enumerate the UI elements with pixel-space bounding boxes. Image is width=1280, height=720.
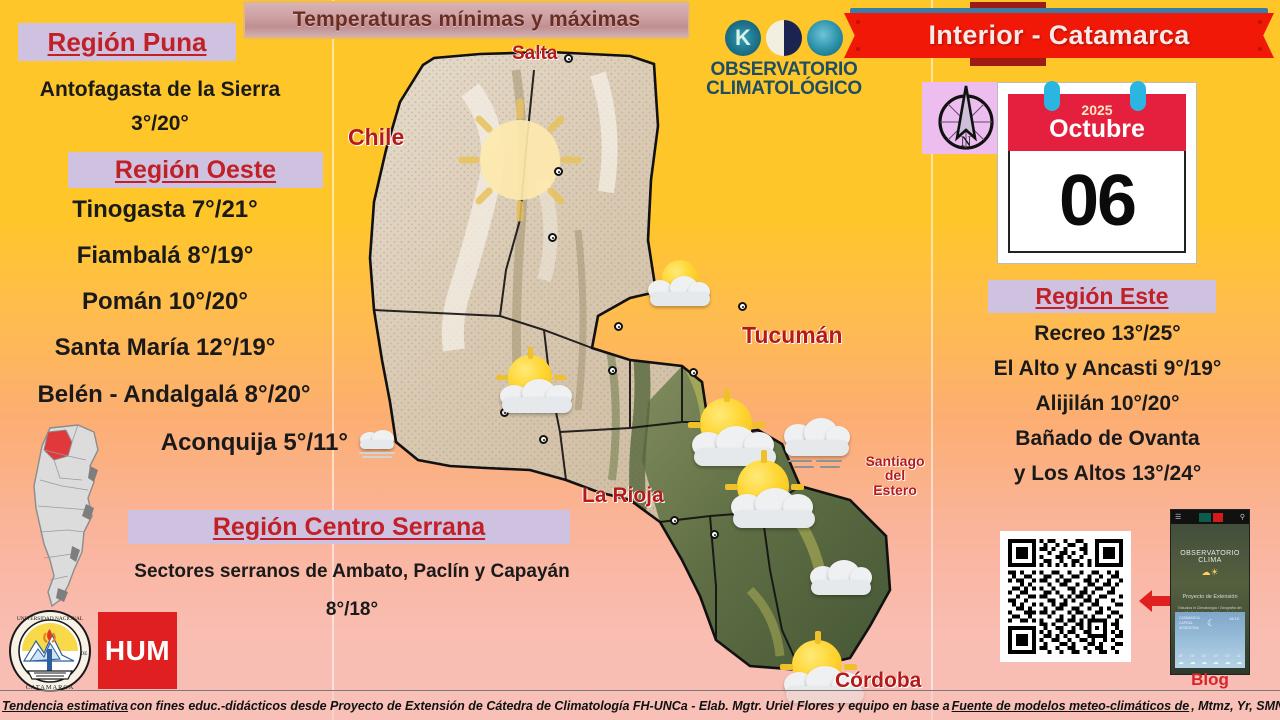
map-label-salta: Salta bbox=[512, 44, 557, 63]
blog-phone-mockup[interactable]: ☰ ⚲ OBSERVATORIO CLIMA ☁☀ Proyecto de Ex… bbox=[1170, 509, 1250, 675]
map-label-cordoba: Córdoba bbox=[835, 670, 921, 691]
header-ribbon-group: Interior - Catamarca bbox=[840, 2, 1278, 66]
phone-weather-card: CATAMARCACAPITALARGENTINA 18:15 ☾ 18°16°… bbox=[1175, 612, 1245, 668]
argentina-locator-map bbox=[20, 420, 115, 610]
map-label-santiago-del-estero: Santiago del Estero bbox=[850, 454, 940, 497]
phone-subtitle: Proyecto de Extensión bbox=[1171, 594, 1249, 600]
phone-title: OBSERVATORIO CLIMA bbox=[1171, 550, 1249, 564]
region-puna-line-0: Antofagasta de la Sierra bbox=[0, 78, 320, 102]
hum-logo-text: HUM bbox=[105, 635, 170, 667]
logo-badge-moon-icon bbox=[766, 20, 802, 56]
phone-weather-icon: ☁☀ bbox=[1171, 567, 1249, 578]
calendar-ring-right bbox=[1130, 81, 1146, 111]
observatory-line2: CLIMATOLÓGICO bbox=[690, 79, 878, 98]
catamarca-map: Salta Chile Tucumán La Rioja Santiago de… bbox=[330, 30, 930, 690]
city-dot bbox=[564, 54, 573, 63]
region-centro-serrana-line-0: Sectores serranos de Ambato, Paclín y Ca… bbox=[92, 561, 612, 583]
region-este-line-1: El Alto y Ancasti 9°/19° bbox=[935, 357, 1280, 381]
footer-part4: , Mtmz, Yr, SMN bbox=[1189, 699, 1280, 713]
footer-part2: con fines educ.-didácticos desde Proyect… bbox=[128, 699, 950, 713]
footer-part1: Tendencia estimativa bbox=[0, 699, 128, 713]
infographic-canvas: Salta Chile Tucumán La Rioja Santiago de… bbox=[0, 0, 1280, 720]
region-este-heading: Región Este bbox=[988, 280, 1216, 313]
page-title: Temperaturas mínimas y máximas bbox=[293, 8, 641, 32]
region-oeste-line-2: Pomán 10°/20° bbox=[0, 288, 330, 316]
phone-status-bar: ☰ ⚲ bbox=[1171, 510, 1249, 524]
weather-icon-sun-cloud bbox=[725, 458, 823, 538]
region-oeste-line-4: Belén - Andalgalá 8°/20° bbox=[0, 381, 348, 409]
region-este-line-3: Bañado de Ovanta bbox=[935, 427, 1280, 451]
unca-logo: UNIVERSIDAD NACIONAL CATAMARCA DE bbox=[8, 609, 92, 693]
city-dot bbox=[554, 167, 563, 176]
region-este-line-4: y Los Altos 13°/24° bbox=[935, 462, 1280, 486]
page-title-banner: Temperaturas mínimas y máximas bbox=[243, 1, 690, 39]
map-label-la-rioja: La Rioja bbox=[582, 485, 664, 506]
region-oeste-line-1: Fiambalá 8°/19° bbox=[0, 242, 330, 270]
qr-code[interactable] bbox=[1000, 531, 1131, 662]
logo-badge-k-icon: K bbox=[725, 20, 761, 56]
region-este-line-0: Recreo 13°/25° bbox=[935, 322, 1280, 346]
city-dot bbox=[710, 530, 719, 539]
region-oeste-line-3: Santa María 12°/19° bbox=[0, 334, 330, 362]
map-label-tucuman: Tucumán bbox=[742, 324, 843, 347]
weather-icon-cloud bbox=[808, 558, 874, 604]
qr-code-graphic bbox=[1008, 539, 1123, 654]
region-este-heading-text: Región Este bbox=[1036, 283, 1169, 310]
calendar-month: Octubre bbox=[1049, 115, 1145, 144]
calendar-header: 2025 Octubre bbox=[1008, 94, 1186, 151]
calendar-day: 06 bbox=[1059, 160, 1135, 242]
city-dot bbox=[670, 516, 679, 525]
logo-badge-globe-icon bbox=[807, 20, 843, 56]
city-dot bbox=[548, 233, 557, 242]
svg-text:UNIVERSIDAD NACIONAL: UNIVERSIDAD NACIONAL bbox=[17, 616, 83, 622]
weather-icon-fog bbox=[356, 430, 400, 460]
city-dot bbox=[614, 322, 623, 331]
calendar-ring-left bbox=[1044, 81, 1060, 111]
footer-part3: Fuente de modelos meteo-climáticos de bbox=[950, 699, 1190, 713]
region-oeste-line-0: Tinogasta 7°/21° bbox=[0, 196, 330, 224]
city-dot bbox=[608, 366, 617, 375]
observatory-line1: OBSERVATORIO bbox=[690, 60, 878, 79]
calendar-body: 06 bbox=[1008, 151, 1186, 253]
region-centro-serrana-heading: Región Centro Serrana bbox=[128, 510, 570, 544]
blog-label: Blog bbox=[1170, 670, 1250, 690]
svg-text:DE: DE bbox=[81, 652, 88, 657]
compass-rose-icon: N bbox=[922, 82, 1007, 154]
city-dot bbox=[738, 302, 747, 311]
map-label-santiago-line1: Santiago bbox=[850, 454, 940, 468]
map-label-santiago-line3: Estero bbox=[850, 483, 940, 497]
region-centro-serrana-heading-text: Región Centro Serrana bbox=[213, 513, 485, 542]
header-ribbon: Interior - Catamarca bbox=[844, 13, 1274, 58]
region-este-line-2: Alijilán 10°/20° bbox=[935, 392, 1280, 416]
region-oeste-heading: Región Oeste bbox=[68, 152, 323, 188]
arrow-left-icon bbox=[1139, 588, 1173, 614]
region-puna-heading: Región Puna bbox=[18, 23, 236, 61]
svg-text:N: N bbox=[961, 134, 972, 150]
map-label-chile: Chile bbox=[348, 126, 404, 149]
region-oeste-heading-text: Región Oeste bbox=[115, 156, 276, 185]
region-puna-line-1: 3°/20° bbox=[0, 112, 320, 136]
map-label-santiago-line2: del bbox=[850, 468, 940, 482]
region-puna-heading-text: Región Puna bbox=[48, 27, 207, 58]
calendar-widget: 2025 Octubre 06 bbox=[997, 82, 1197, 264]
weather-icon-sun-cloud bbox=[498, 355, 582, 425]
weather-icon-sun-cloud bbox=[648, 258, 720, 320]
header-title: Interior - Catamarca bbox=[928, 20, 1189, 51]
logo-badges: K bbox=[690, 20, 878, 56]
footer-credits: Tendencia estimativa con fines educ.-did… bbox=[0, 690, 1280, 720]
observatorio-climatologico-logo: K OBSERVATORIO CLIMATOLÓGICO bbox=[690, 20, 878, 106]
city-dot bbox=[689, 368, 698, 377]
city-dot bbox=[539, 435, 548, 444]
hum-logo: HUM bbox=[98, 612, 177, 689]
